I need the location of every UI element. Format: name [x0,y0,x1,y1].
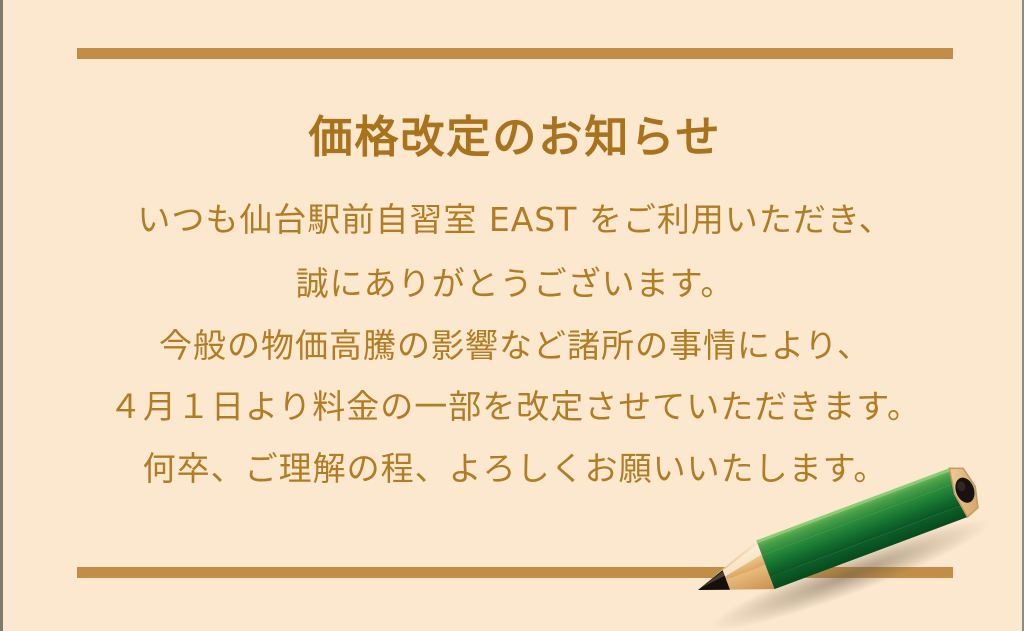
notice-body-line: いつも仙台駅前自習室 EAST をご利用いただき、 [3,199,1024,240]
bottom-divider-rule [77,567,953,578]
top-divider-rule [77,48,953,59]
notice-body-line: 何卒、ご理解の程、よろしくお願いいたします。 [3,448,1024,489]
notice-body-line: 誠にありがとうございます。 [3,263,1024,304]
pencil-wood-upper [689,540,766,590]
notice-body-line: ４月１日より料金の一部を改定させていただきます。 [3,386,1024,427]
pencil-wood-highlight [702,544,766,585]
page-title: 価格改定のお知らせ [3,112,1024,165]
pencil-facet-middle [762,483,963,577]
notice-body-line: 今般の物価高騰の影響など諸所の事情により、 [3,325,1024,366]
price-revision-notice-card: 価格改定のお知らせ いつも仙台駅前自習室 EAST をご利用いただき、 誠にあり… [0,0,1024,631]
